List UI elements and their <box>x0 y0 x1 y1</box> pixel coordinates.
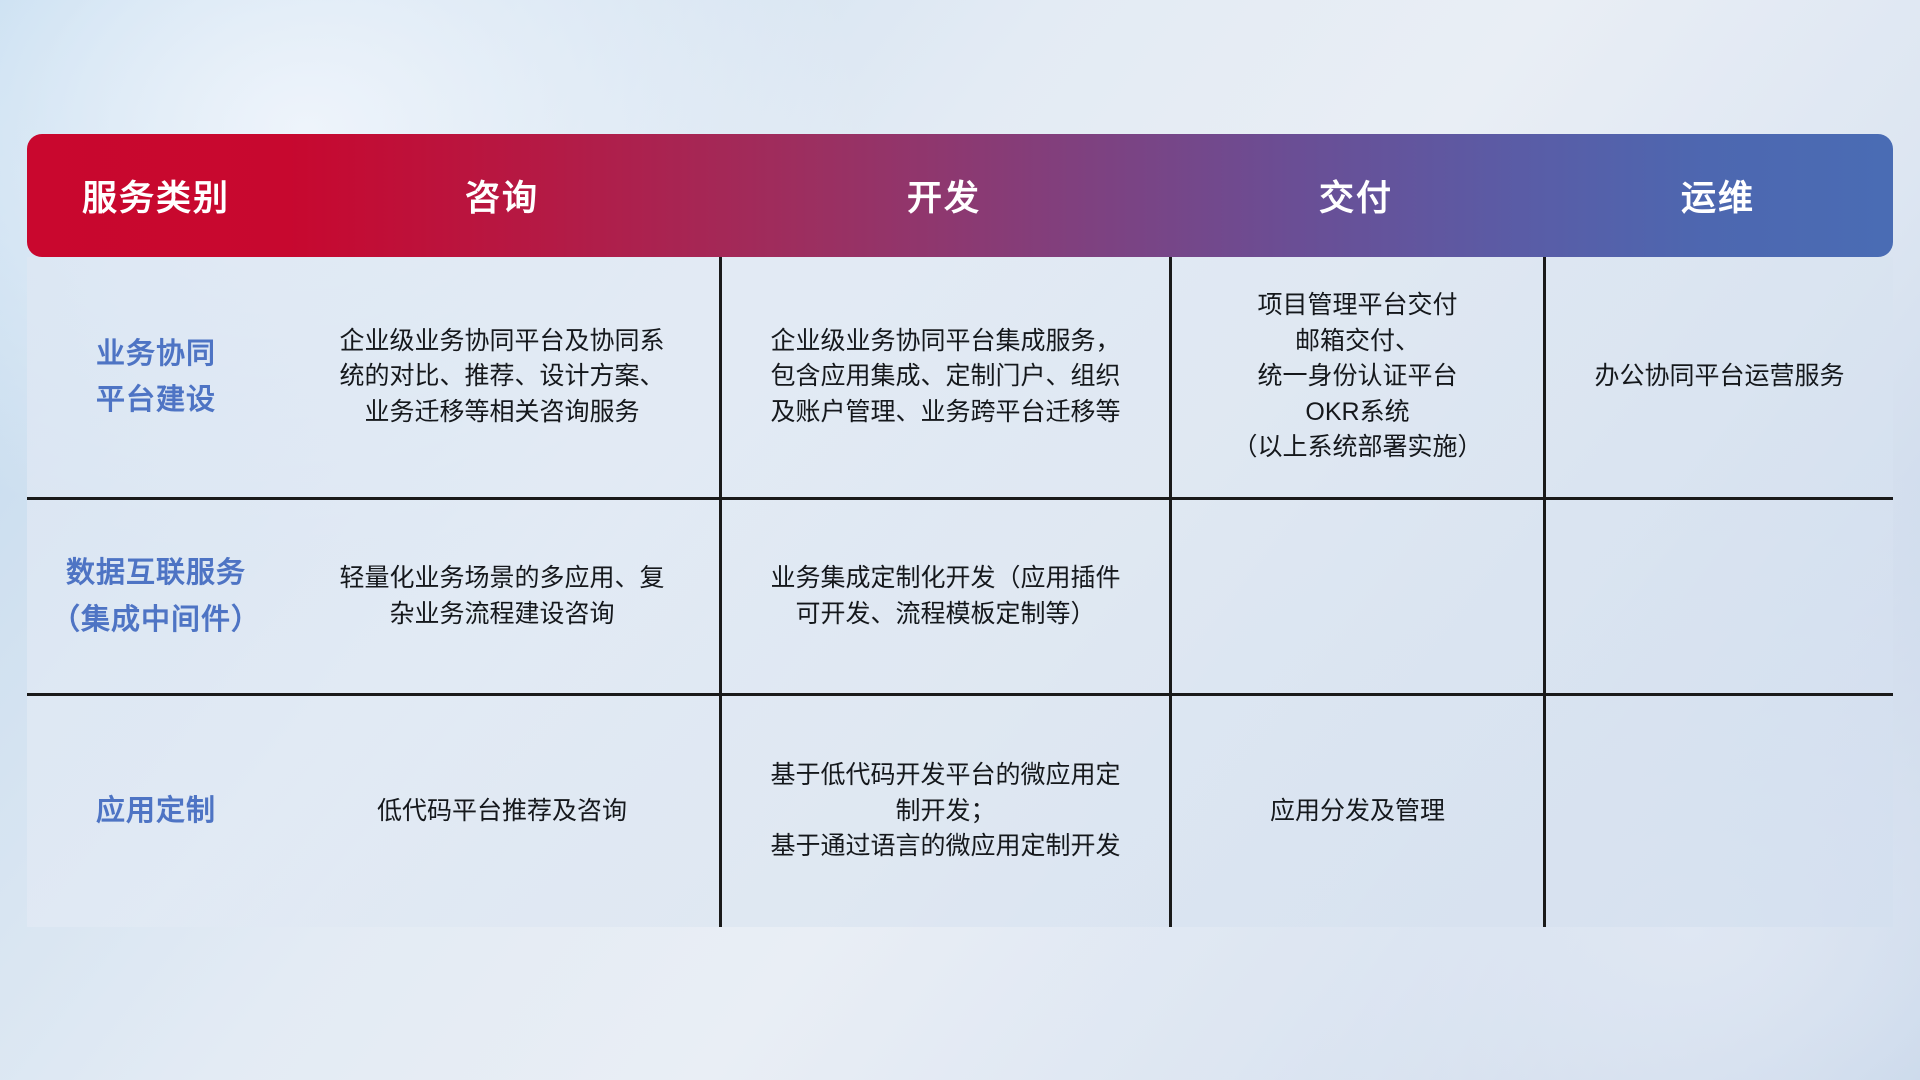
column-header-consulting: 咨询 <box>285 134 719 257</box>
column-header-development: 开发 <box>719 134 1169 257</box>
table-row: 应用定制 低代码平台推荐及咨询 基于低代码开发平台的微应用定 制开发； 基于通过… <box>27 693 1893 927</box>
row-label-app-customization: 应用定制 <box>27 696 285 927</box>
slide-canvas: 服务类别 咨询 开发 交付 运维 业务协同 平台建设 企业级业务协同平台及协同系… <box>0 0 1920 1080</box>
cell-r1-consulting: 轻量化业务场景的多应用、复 杂业务流程建设咨询 <box>285 500 719 693</box>
table-header-row: 服务类别 咨询 开发 交付 运维 <box>27 134 1893 257</box>
column-header-service-category: 服务类别 <box>27 134 285 257</box>
cell-r1-development: 业务集成定制化开发（应用插件 可开发、流程模板定制等） <box>719 500 1169 693</box>
cell-r2-consulting: 低代码平台推荐及咨询 <box>285 696 719 927</box>
cell-r1-operations <box>1543 500 1893 693</box>
table-row: 业务协同 平台建设 企业级业务协同平台及协同系 统的对比、推荐、设计方案、 业务… <box>27 257 1893 497</box>
row-label-data-interconnect: 数据互联服务 （集成中间件） <box>27 500 285 693</box>
table-row: 数据互联服务 （集成中间件） 轻量化业务场景的多应用、复 杂业务流程建设咨询 业… <box>27 497 1893 693</box>
row-label-business-collaboration: 业务协同 平台建设 <box>27 257 285 497</box>
column-header-operations: 运维 <box>1543 134 1893 257</box>
cell-r0-development: 企业级业务协同平台集成服务， 包含应用集成、定制门户、组织 及账户管理、业务跨平… <box>719 257 1169 497</box>
cell-r0-operations: 办公协同平台运营服务 <box>1543 257 1893 497</box>
cell-r1-delivery <box>1169 500 1543 693</box>
service-matrix-table: 服务类别 咨询 开发 交付 运维 业务协同 平台建设 企业级业务协同平台及协同系… <box>27 134 1893 927</box>
cell-r0-consulting: 企业级业务协同平台及协同系 统的对比、推荐、设计方案、 业务迁移等相关咨询服务 <box>285 257 719 497</box>
column-header-delivery: 交付 <box>1169 134 1543 257</box>
cell-r2-delivery: 应用分发及管理 <box>1169 696 1543 927</box>
cell-r2-development: 基于低代码开发平台的微应用定 制开发； 基于通过语言的微应用定制开发 <box>719 696 1169 927</box>
cell-r2-operations <box>1543 696 1893 927</box>
table-body: 业务协同 平台建设 企业级业务协同平台及协同系 统的对比、推荐、设计方案、 业务… <box>27 257 1893 927</box>
cell-r0-delivery: 项目管理平台交付 邮箱交付、 统一身份认证平台 OKR系统 （以上系统部署实施） <box>1169 257 1543 497</box>
